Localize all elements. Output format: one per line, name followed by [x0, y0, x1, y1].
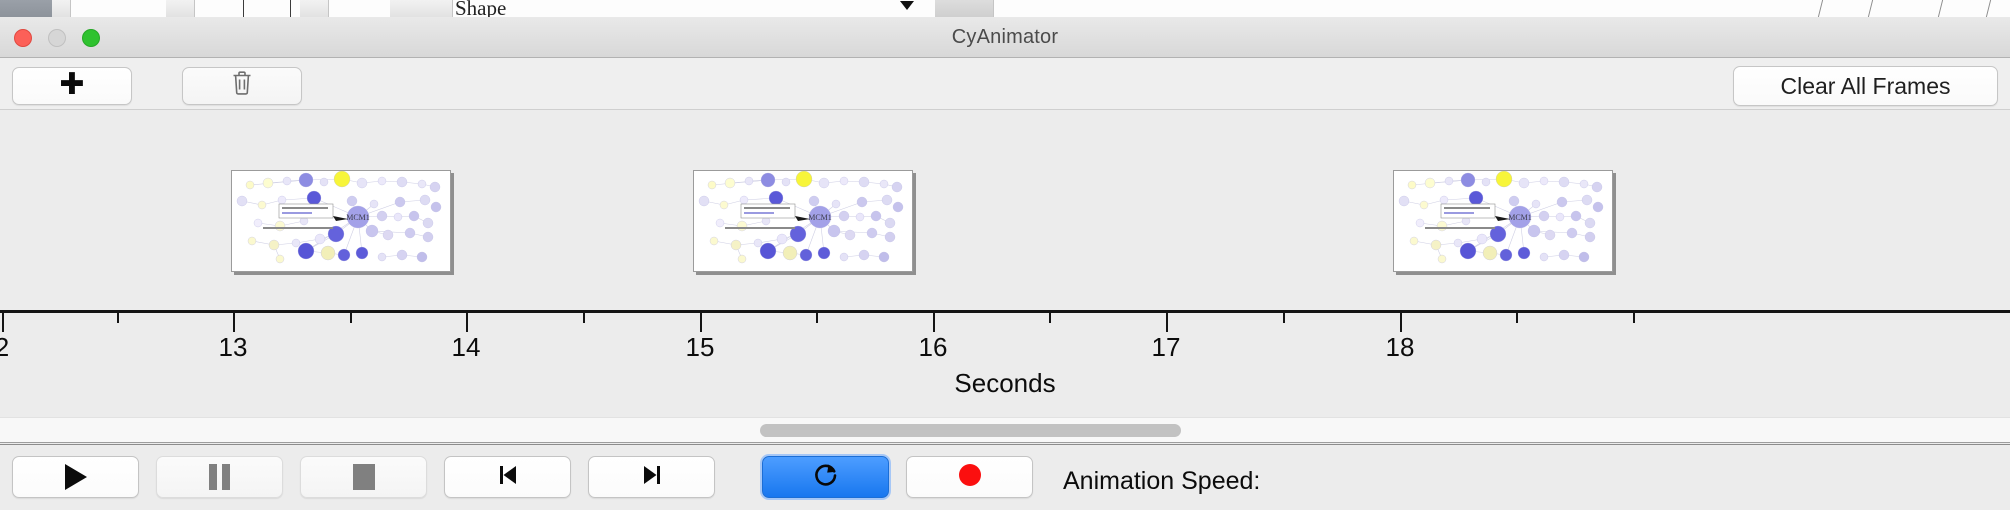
axis-tick-label: 17 — [1152, 332, 1181, 363]
axis-tick — [2, 313, 4, 332]
bg-slope — [1868, 0, 1895, 17]
network-graph: MCM1 — [694, 171, 910, 269]
axis-tick — [117, 313, 119, 323]
axis-tick — [1283, 313, 1285, 323]
skip-to-start-button[interactable] — [444, 456, 571, 498]
axis-tick — [700, 313, 702, 332]
network-graph: MCM1 — [232, 171, 448, 269]
background-window-strip: Shape — [0, 0, 2010, 18]
stop-icon — [353, 464, 375, 490]
graph-node-label: MCM1 — [808, 213, 832, 222]
bg-window-label: Shape — [455, 0, 506, 18]
window-title: CyAnimator — [0, 26, 2010, 49]
record-button[interactable] — [906, 456, 1033, 498]
plus-icon: ✚ — [59, 70, 84, 100]
axis-tick — [350, 313, 352, 323]
axis-tick — [1516, 313, 1518, 323]
bg-slope — [1938, 0, 1965, 17]
frame-thumbnail-1[interactable]: MCM1 — [231, 170, 451, 272]
bg-chip — [390, 0, 453, 17]
stop-button[interactable] — [300, 456, 427, 498]
axis-tick-label: 18 — [1386, 332, 1415, 363]
bg-chip — [0, 0, 53, 17]
bg-tick — [290, 0, 291, 17]
clear-all-frames-button[interactable]: Clear All Frames — [1733, 66, 1998, 106]
timeline-axis — [0, 310, 2010, 313]
axis-tick-label: 13 — [219, 332, 248, 363]
cyanimator-window: Shape CyAnimator ✚ Cle — [0, 0, 2010, 510]
axis-tick-label: 14 — [452, 332, 481, 363]
horizontal-scrollbar[interactable] — [0, 417, 2010, 443]
add-frame-button[interactable]: ✚ — [12, 67, 132, 105]
axis-tick — [933, 313, 935, 332]
play-button[interactable] — [12, 456, 139, 498]
axis-tick — [466, 313, 468, 332]
frame-toolbar: ✚ Clear All Frames — [0, 58, 2010, 110]
title-bar[interactable]: CyAnimator — [0, 17, 2010, 58]
pause-icon — [209, 464, 230, 490]
timeline-panel[interactable]: MCM1MCM1MCM1 2131415161718 Seconds — [0, 110, 2010, 417]
bg-slope — [1986, 0, 2010, 17]
axis-tick — [233, 313, 235, 332]
frame-thumbnail-3[interactable]: MCM1 — [1393, 170, 1613, 272]
play-icon — [65, 464, 87, 490]
axis-tick-label: 2 — [0, 332, 9, 363]
frame-thumbnail-2[interactable]: MCM1 — [693, 170, 913, 272]
axis-tick — [1400, 313, 1402, 332]
pause-button[interactable] — [156, 456, 283, 498]
skip-to-end-button[interactable] — [588, 456, 715, 498]
axis-tick — [1633, 313, 1635, 323]
axis-tick — [583, 313, 585, 323]
graph-node-label: MCM1 — [346, 213, 370, 222]
bg-tick — [243, 0, 244, 17]
bg-chip — [935, 0, 994, 17]
playback-control-bar: Animation Speed: — [0, 444, 2010, 510]
skip-backward-icon — [495, 462, 521, 493]
axis-tick-label: 15 — [686, 332, 715, 363]
network-graph: MCM1 — [1394, 171, 1610, 269]
bg-chip — [300, 0, 329, 17]
axis-tick — [816, 313, 818, 323]
record-icon — [957, 462, 983, 493]
delete-frame-button[interactable] — [182, 67, 302, 105]
skip-forward-icon — [639, 462, 665, 493]
axis-title: Seconds — [0, 368, 2010, 399]
graph-node-label: MCM1 — [1508, 213, 1532, 222]
loop-button[interactable] — [762, 456, 889, 498]
axis-tick — [1049, 313, 1051, 323]
axis-tick — [1166, 313, 1168, 332]
bg-chip — [52, 0, 71, 17]
axis-tick-label: 16 — [919, 332, 948, 363]
loop-icon — [811, 460, 841, 495]
animation-speed-label: Animation Speed: — [1063, 467, 1260, 496]
horizontal-scrollbar-thumb[interactable] — [760, 424, 1181, 437]
bg-caret-icon — [900, 1, 914, 10]
bg-slope — [1818, 0, 1845, 17]
trash-icon — [231, 70, 253, 102]
bg-chip — [166, 0, 195, 17]
